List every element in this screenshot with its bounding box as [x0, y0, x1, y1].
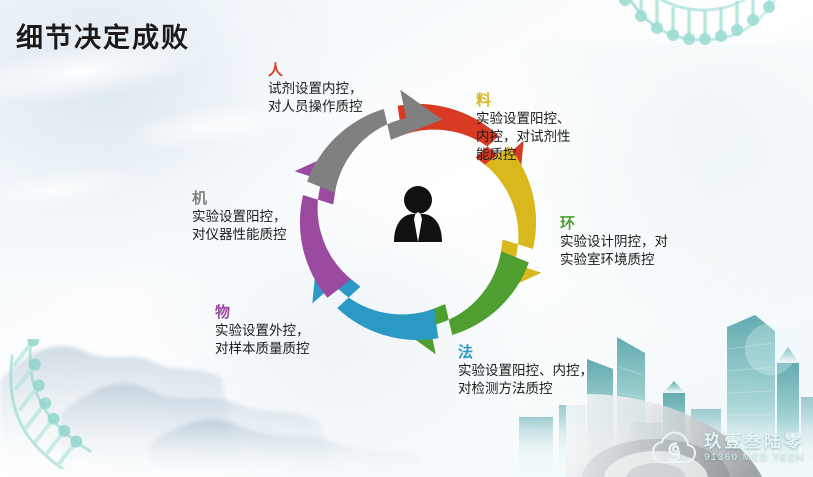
callout-liao-head: 料: [476, 92, 601, 109]
logo-text: 玖壹叁陆零 91360 MED TECH: [704, 433, 805, 463]
callout-ren-body: 试剂设置内控， 对人员操作质控: [268, 80, 398, 116]
callout-wu-head: 物: [215, 304, 380, 321]
callout-huan-head: 环: [560, 215, 720, 232]
dna-helix-icon-bottom-left: [0, 339, 116, 469]
callout-ji: 机 实验设置阳控， 对仪器性能质控: [192, 190, 352, 244]
callout-huan: 环 实验设计阴控，对 实验室环境质控: [560, 215, 720, 269]
callout-fa: 法 实验设置阳控、内控， 对检测方法质控: [458, 344, 643, 398]
dna-helix-icon-top-right: [611, 0, 791, 62]
person-businessman-icon: [394, 186, 442, 242]
cloud-nine-logo-icon: [652, 431, 696, 465]
callout-liao-body: 实验设置阳控、 内控，对试剂性 能质控: [476, 110, 601, 163]
page-title: 细节决定成败: [16, 16, 190, 55]
callout-fa-body: 实验设置阳控、内控， 对检测方法质控: [458, 362, 643, 398]
callout-ji-body: 实验设置阳控， 对仪器性能质控: [192, 208, 352, 244]
callout-ren: 人 试剂设置内控， 对人员操作质控: [268, 62, 398, 116]
callout-ren-head: 人: [268, 62, 398, 79]
brand-logo: 玖壹叁陆零 91360 MED TECH: [652, 431, 805, 465]
slide-canvas: 细节决定成败: [0, 0, 813, 477]
callout-ji-head: 机: [192, 190, 352, 207]
callout-liao: 料 实验设置阳控、 内控，对试剂性 能质控: [476, 92, 601, 164]
callout-huan-body: 实验设计阴控，对 实验室环境质控: [560, 233, 720, 269]
logo-name-en: 91360 MED TECH: [704, 453, 805, 463]
logo-name-cn: 玖壹叁陆零: [704, 433, 805, 450]
callout-wu: 物 实验设置外控， 对样本质量质控: [215, 304, 380, 358]
callout-wu-body: 实验设置外控， 对样本质量质控: [215, 322, 380, 358]
callout-fa-head: 法: [458, 344, 643, 361]
